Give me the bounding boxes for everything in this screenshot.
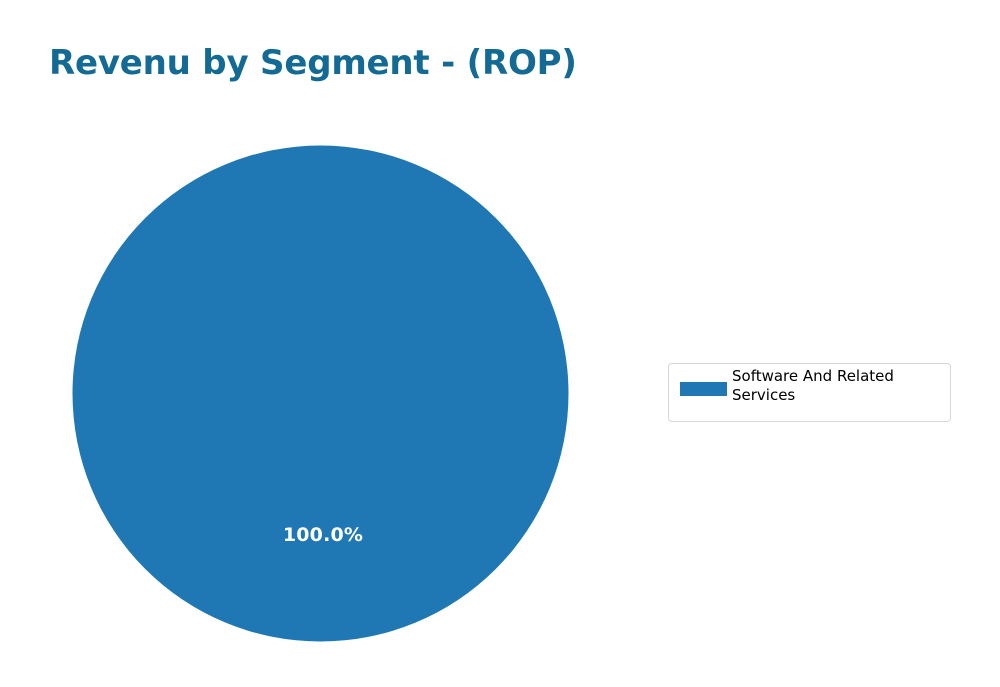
pie-wedge-software-and-related-services[interactable] [72,145,569,642]
pie-chart-figure: Revenu by Segment - (ROP) 100.0% Softwar… [0,0,1000,687]
legend[interactable]: Software And Related Services [668,363,951,422]
legend-item-label: Software And Related Services [732,367,944,405]
legend-item-software-and-related-services[interactable]: Software And Related Services [669,364,950,421]
pie-plot-area: 100.0% [0,0,660,687]
legend-color-swatch-icon [680,382,727,396]
